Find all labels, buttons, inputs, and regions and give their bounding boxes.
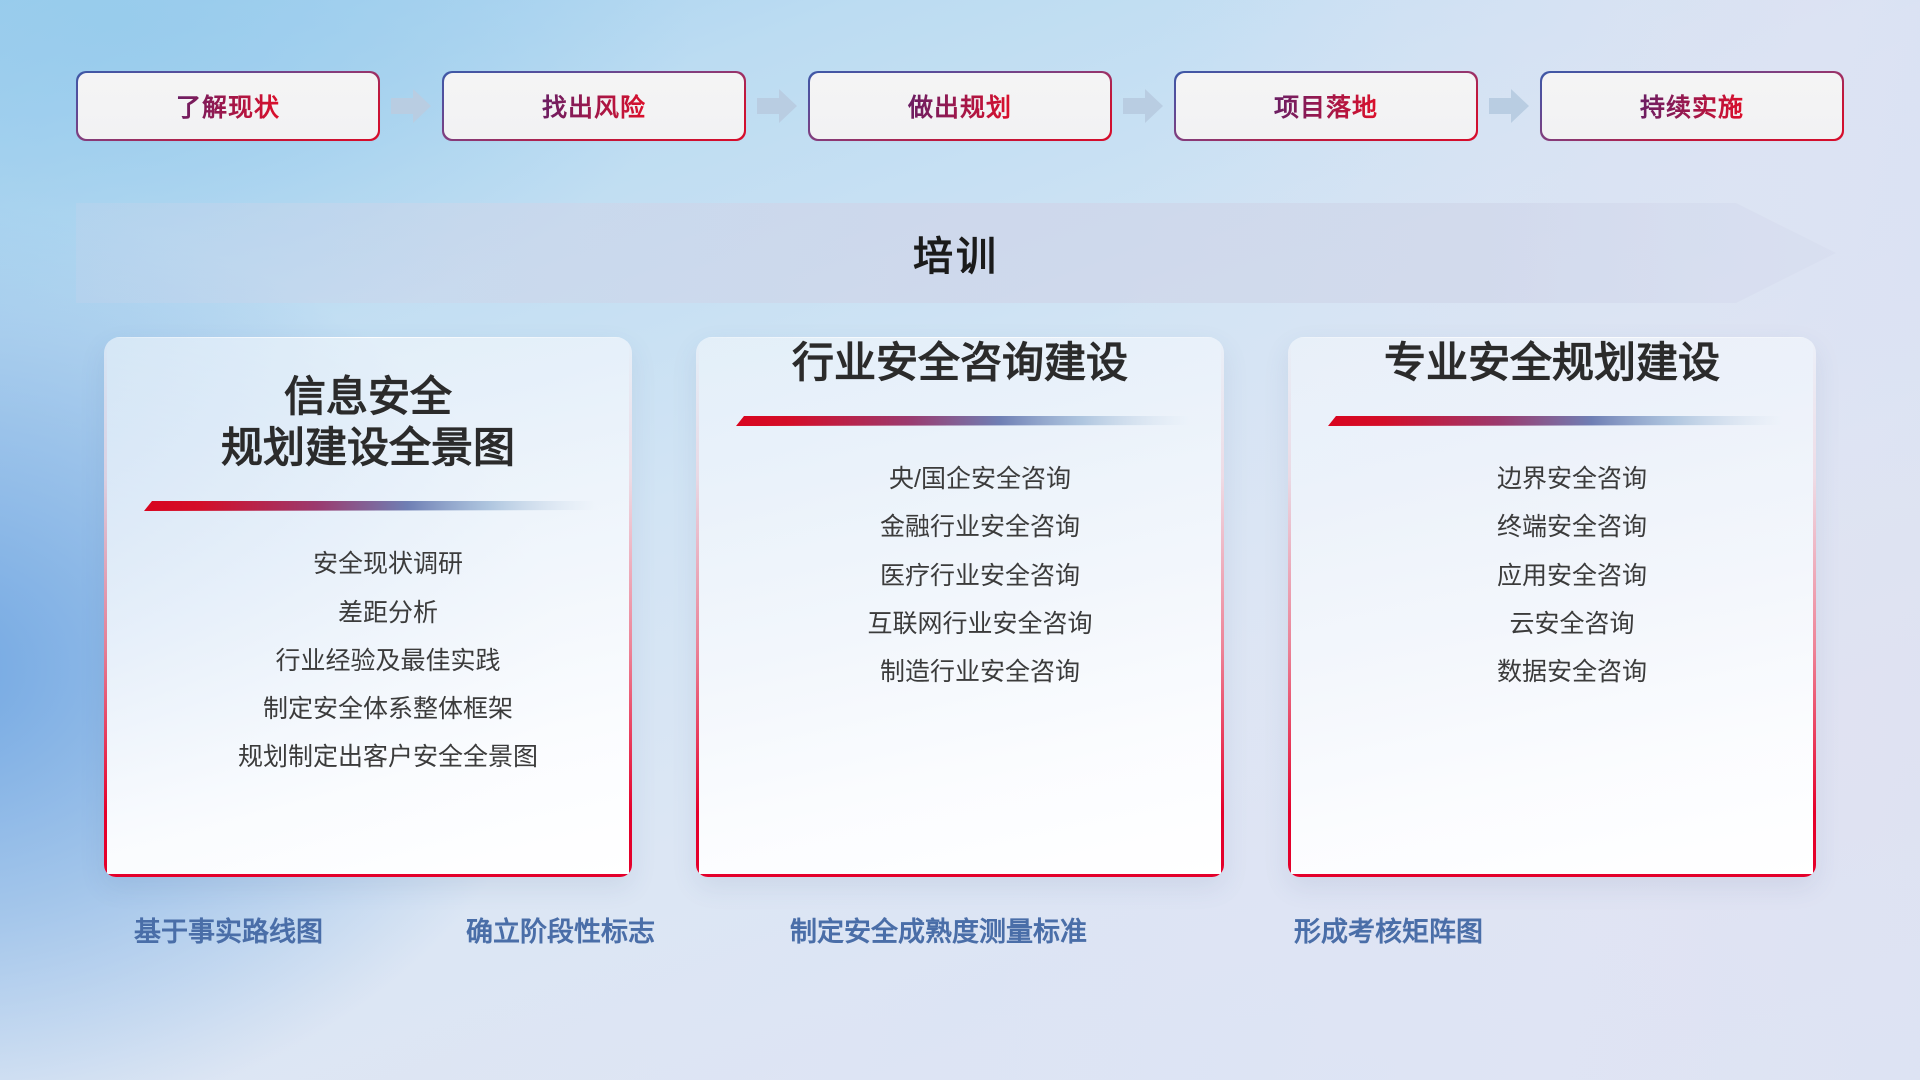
card-title-line: 信息安全: [221, 371, 515, 422]
banner-label: 培训: [76, 203, 1836, 303]
card-top-highlight: [104, 337, 632, 338]
arrow-right-icon: [378, 89, 444, 123]
bottom-captions: 基于事实路线图确立阶段性标志制定安全成熟度测量标准形成考核矩阵图: [0, 910, 1920, 966]
training-banner: 培训: [76, 203, 1856, 303]
card-title: 行业安全咨询建设: [792, 337, 1128, 388]
step-box-4[interactable]: 项目落地: [1176, 73, 1476, 139]
process-steps: 了解现状找出风险做出规划项目落地持续实施: [0, 70, 1920, 142]
card-divider-bar: [1322, 414, 1782, 428]
card-bottom-border: [1288, 874, 1816, 877]
list-item: 云安全咨询: [1509, 609, 1634, 640]
list-item: 医疗行业安全咨询: [880, 561, 1080, 592]
card-title-line: 专业安全规划建设: [1384, 337, 1720, 388]
step-label: 找出风险: [444, 73, 744, 139]
list-item: 制造行业安全咨询: [880, 657, 1080, 688]
caption-4: 形成考核矩阵图: [1294, 910, 1483, 949]
service-card-3[interactable]: 专业安全规划建设边界安全咨询终端安全咨询应用安全咨询云安全咨询数据安全咨询: [1288, 337, 1816, 877]
card-divider-bar: [138, 499, 598, 513]
card-list: 边界安全咨询终端安全咨询应用安全咨询云安全咨询数据安全咨询: [1457, 464, 1647, 688]
step-label: 了解现状: [78, 73, 378, 139]
caption-2: 确立阶段性标志: [466, 910, 655, 949]
list-item: 央/国企安全咨询: [889, 464, 1071, 495]
step-box-2[interactable]: 找出风险: [444, 73, 744, 139]
card-left-border: [104, 337, 107, 877]
list-item: 金融行业安全咨询: [880, 512, 1080, 543]
card-bottom-border: [104, 874, 632, 877]
list-item: 应用安全咨询: [1497, 561, 1647, 592]
card-right-border: [1221, 337, 1224, 877]
arrow-right-icon: [744, 89, 810, 123]
card-divider-bar: [730, 414, 1190, 428]
arrow-right-icon: [1110, 89, 1176, 123]
step-label: 做出规划: [810, 73, 1110, 139]
caption-1: 基于事实路线图: [134, 910, 323, 949]
list-item: 规划制定出客户安全全景图: [238, 742, 538, 773]
card-title-line: 规划建设全景图: [221, 422, 515, 473]
service-card-1[interactable]: 信息安全规划建设全景图安全现状调研差距分析行业经验及最佳实践制定安全体系整体框架…: [104, 337, 632, 877]
list-item: 安全现状调研: [313, 549, 463, 580]
list-item: 制定安全体系整体框架: [263, 694, 513, 725]
list-item: 数据安全咨询: [1497, 657, 1647, 688]
step-label: 项目落地: [1176, 73, 1476, 139]
card-title: 专业安全规划建设: [1384, 337, 1720, 388]
list-item: 差距分析: [338, 598, 438, 629]
card-list: 安全现状调研差距分析行业经验及最佳实践制定安全体系整体框架规划制定出客户安全全景…: [198, 549, 538, 773]
card-right-border: [1813, 337, 1816, 877]
list-item: 互联网行业安全咨询: [867, 609, 1092, 640]
card-list: 央/国企安全咨询金融行业安全咨询医疗行业安全咨询互联网行业安全咨询制造行业安全咨…: [827, 464, 1092, 688]
step-box-1[interactable]: 了解现状: [78, 73, 378, 139]
cards-row: 信息安全规划建设全景图安全现状调研差距分析行业经验及最佳实践制定安全体系整体框架…: [0, 337, 1920, 877]
step-box-5[interactable]: 持续实施: [1542, 73, 1842, 139]
card-left-border: [1288, 337, 1291, 877]
step-box-3[interactable]: 做出规划: [810, 73, 1110, 139]
service-card-2[interactable]: 行业安全咨询建设央/国企安全咨询金融行业安全咨询医疗行业安全咨询互联网行业安全咨…: [696, 337, 1224, 877]
list-item: 终端安全咨询: [1497, 512, 1647, 543]
caption-3: 制定安全成熟度测量标准: [790, 910, 1087, 949]
card-left-border: [696, 337, 699, 877]
list-item: 边界安全咨询: [1497, 464, 1647, 495]
card-title-line: 行业安全咨询建设: [792, 337, 1128, 388]
card-bottom-border: [696, 874, 1224, 877]
list-item: 行业经验及最佳实践: [275, 646, 500, 677]
card-title: 信息安全规划建设全景图: [221, 371, 515, 473]
arrow-right-icon: [1476, 89, 1542, 123]
card-right-border: [629, 337, 632, 877]
step-label: 持续实施: [1542, 73, 1842, 139]
